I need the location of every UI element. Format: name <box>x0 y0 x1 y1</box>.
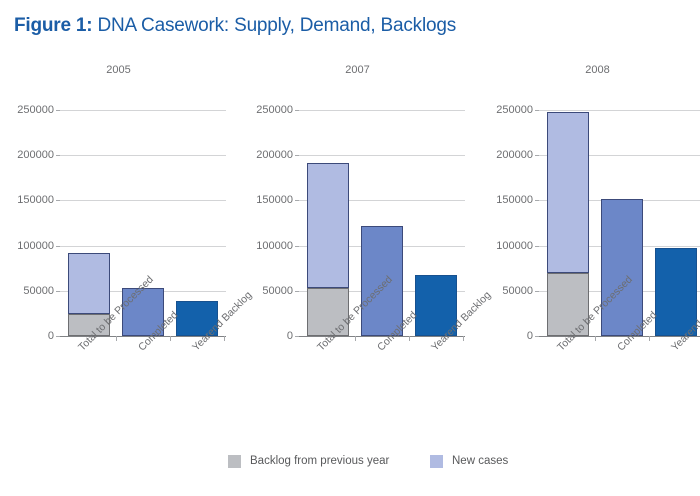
y-tick-label-100000: 100000 <box>17 240 54 252</box>
y-tick-mark-0 <box>56 336 60 337</box>
gridline-200000 <box>299 155 465 156</box>
panel-title-2007: 2007 <box>241 64 474 76</box>
page-title: Figure 1: DNA Casework: Supply, Demand, … <box>14 15 456 37</box>
y-tick-mark-200000 <box>56 155 60 156</box>
plot-area-2008: 050000100000150000200000250000 <box>539 110 700 336</box>
y-tick-mark-150000 <box>295 200 299 201</box>
gridline-250000 <box>299 110 465 111</box>
y-tick-label-50000: 50000 <box>502 285 533 297</box>
y-tick-mark-50000 <box>535 291 539 292</box>
y-tick-mark-50000 <box>56 291 60 292</box>
y-tick-mark-100000 <box>295 246 299 247</box>
plot-area-2005: 050000100000150000200000250000 <box>60 110 226 336</box>
y-tick-mark-250000 <box>56 110 60 111</box>
y-tick-label-250000: 250000 <box>496 104 533 116</box>
x-tick-mark-0 <box>355 336 356 341</box>
chart-panel-2008: 2008050000100000150000200000250000Total … <box>481 60 700 430</box>
gridline-150000 <box>60 200 226 201</box>
chart-legend: Backlog from previous year New cases <box>0 450 700 476</box>
legend-item-new-cases: New cases <box>430 450 508 472</box>
y-tick-mark-200000 <box>295 155 299 156</box>
y-tick-label-0: 0 <box>527 330 533 342</box>
y-tick-mark-0 <box>535 336 539 337</box>
y-tick-label-250000: 250000 <box>256 104 293 116</box>
y-tick-label-150000: 150000 <box>256 194 293 206</box>
figure-number-label: Figure 1: <box>14 15 92 36</box>
gridline-250000 <box>539 110 700 111</box>
plot-area-2007: 050000100000150000200000250000 <box>299 110 465 336</box>
y-tick-label-200000: 200000 <box>17 149 54 161</box>
legend-label-new-cases: New cases <box>452 455 508 467</box>
legend-swatch-backlog-from-previous-year <box>228 455 241 468</box>
y-tick-label-200000: 200000 <box>496 149 533 161</box>
y-tick-mark-0 <box>295 336 299 337</box>
y-tick-label-50000: 50000 <box>23 285 54 297</box>
x-tick-mark-2 <box>463 336 464 341</box>
y-tick-label-250000: 250000 <box>17 104 54 116</box>
title-divider <box>0 47 700 48</box>
x-tick-mark-0 <box>595 336 596 341</box>
y-tick-label-200000: 200000 <box>256 149 293 161</box>
gridline-100000 <box>60 246 226 247</box>
y-tick-label-50000: 50000 <box>262 285 293 297</box>
bar-segment-new-cases-2007 <box>307 163 349 288</box>
x-tick-mark-2 <box>224 336 225 341</box>
x-tick-mark-1 <box>649 336 650 341</box>
legend-swatch-new-cases <box>430 455 443 468</box>
y-tick-mark-150000 <box>535 200 539 201</box>
gridline-250000 <box>60 110 226 111</box>
panel-title-2005: 2005 <box>2 64 235 76</box>
y-tick-mark-250000 <box>535 110 539 111</box>
x-tick-mark-0 <box>116 336 117 341</box>
y-tick-mark-100000 <box>535 246 539 247</box>
chart-panel-2005: 2005050000100000150000200000250000Total … <box>2 60 235 430</box>
bar-completed-2008 <box>601 199 643 336</box>
y-tick-mark-150000 <box>56 200 60 201</box>
y-tick-label-100000: 100000 <box>496 240 533 252</box>
y-tick-label-150000: 150000 <box>496 194 533 206</box>
y-tick-label-150000: 150000 <box>17 194 54 206</box>
y-tick-label-0: 0 <box>48 330 54 342</box>
panel-title-2008: 2008 <box>481 64 700 76</box>
x-tick-mark-1 <box>170 336 171 341</box>
y-tick-mark-100000 <box>56 246 60 247</box>
y-tick-label-100000: 100000 <box>256 240 293 252</box>
x-tick-mark-1 <box>409 336 410 341</box>
legend-item-backlog-from-previous-year: Backlog from previous year <box>228 450 389 472</box>
chart-panel-2007: 2007050000100000150000200000250000Total … <box>241 60 474 430</box>
figure-title-text: DNA Casework: Supply, Demand, Backlogs <box>92 15 456 36</box>
y-tick-mark-50000 <box>295 291 299 292</box>
bar-segment-new-cases-2005 <box>68 253 110 314</box>
gridline-200000 <box>60 155 226 156</box>
legend-label-backlog-from-previous-year: Backlog from previous year <box>250 455 389 467</box>
y-tick-mark-250000 <box>295 110 299 111</box>
y-tick-mark-200000 <box>535 155 539 156</box>
bar-segment-new-cases-2008 <box>547 112 589 273</box>
y-tick-label-0: 0 <box>287 330 293 342</box>
